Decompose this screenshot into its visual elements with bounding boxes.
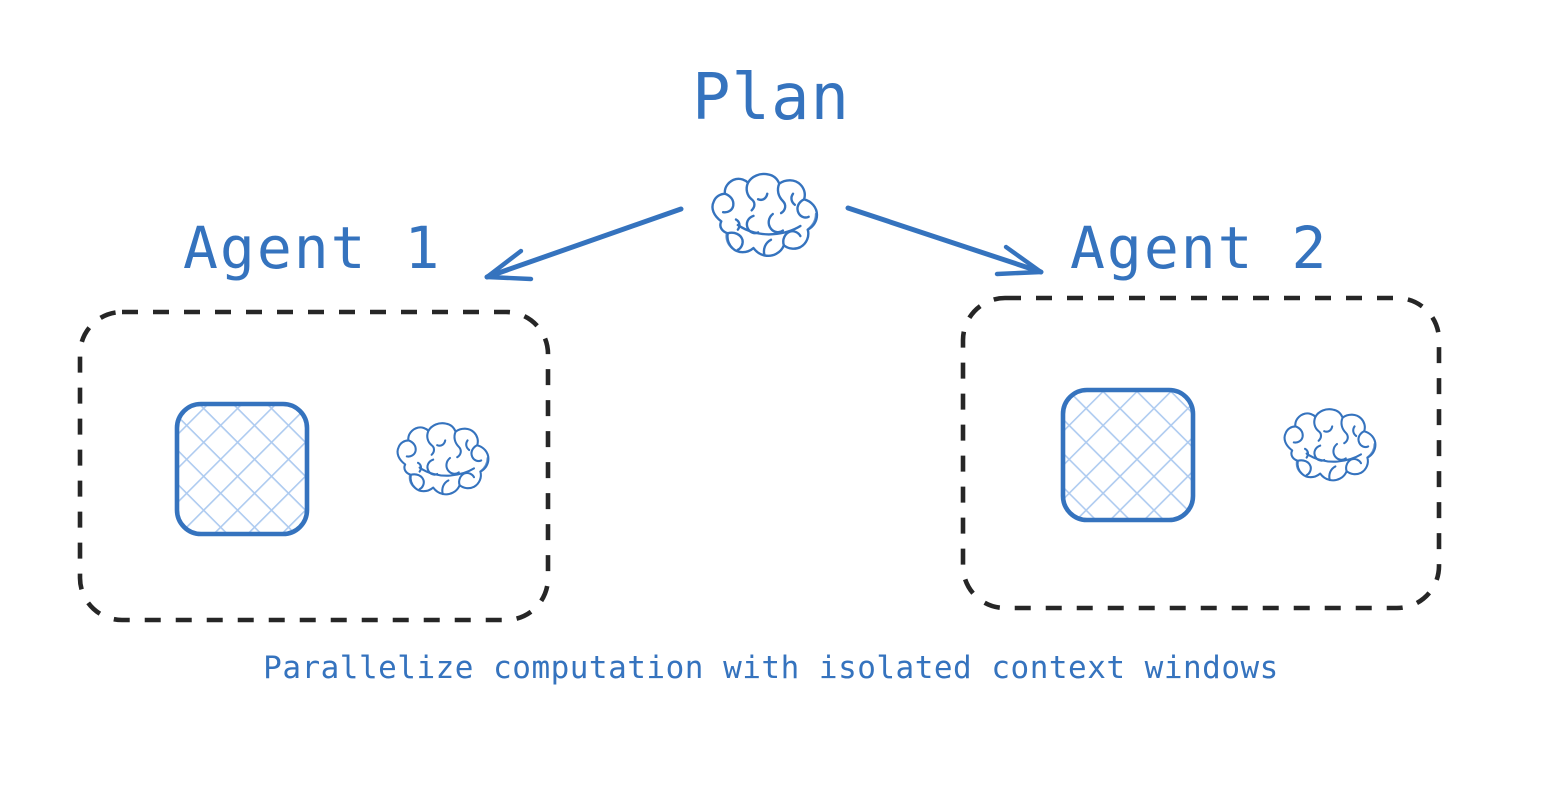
arrow-plan-to-agent-2: [848, 208, 1041, 274]
agent-2-group[interactable]: [963, 298, 1439, 608]
plan-brain-icon: [712, 174, 816, 256]
agent-2-label: Agent 2: [1070, 219, 1328, 277]
agent-2-context-window[interactable]: [1063, 390, 1193, 520]
agent-2-boundary-box[interactable]: [963, 298, 1439, 608]
agent-1-label: Agent 1: [183, 219, 441, 277]
agent-2-brain-icon: [1285, 409, 1376, 480]
agent-1-brain-icon: [398, 423, 489, 494]
diagram-canvas: Plan Agent 1 Agent 2 Parallelize computa…: [0, 0, 1542, 794]
arrow-plan-to-agent-1: [487, 209, 681, 279]
agent-1-boundary-box[interactable]: [80, 312, 548, 620]
agent-1-group[interactable]: [80, 312, 548, 620]
agent-1-context-window[interactable]: [177, 404, 307, 534]
page-title: Plan: [0, 66, 1542, 130]
diagram-caption: Parallelize computation with isolated co…: [0, 653, 1542, 684]
